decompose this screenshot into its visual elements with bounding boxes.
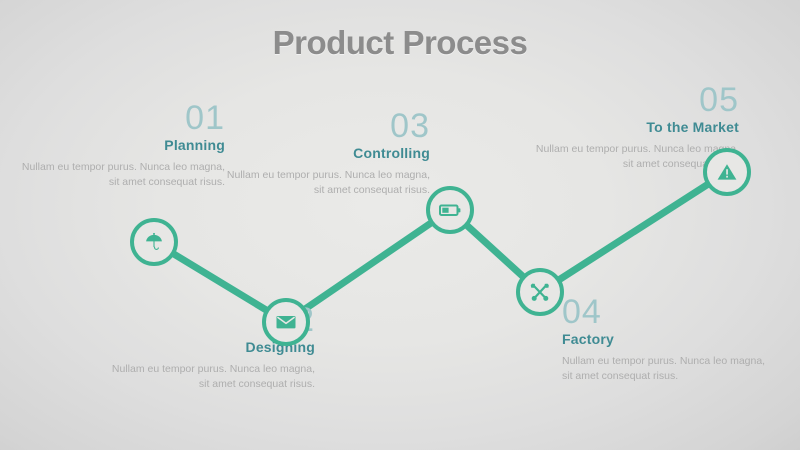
warning-triangle-icon bbox=[715, 160, 739, 184]
step-body: Nullam eu tempor purus. Nunca leo magna,… bbox=[10, 160, 225, 190]
envelope-icon bbox=[274, 310, 298, 334]
step-heading: Factory bbox=[562, 331, 777, 347]
step-node-5[interactable] bbox=[703, 148, 751, 196]
step-heading: To the Market bbox=[524, 119, 739, 135]
step-body: Nullam eu tempor purus. Nunca leo magna,… bbox=[215, 168, 430, 198]
step-node-4[interactable] bbox=[516, 268, 564, 316]
step-number: 03 bbox=[215, 108, 430, 144]
umbrella-icon bbox=[143, 231, 165, 253]
step-body: Nullam eu tempor purus. Nunca leo magna,… bbox=[562, 354, 777, 384]
step-heading: Controlling bbox=[215, 145, 430, 161]
step-block-3: 03 Controlling Nullam eu tempor purus. N… bbox=[215, 108, 430, 198]
step-body: Nullam eu tempor purus. Nunca leo magna,… bbox=[100, 362, 315, 392]
step-node-1[interactable] bbox=[130, 218, 178, 266]
step-node-2[interactable] bbox=[262, 298, 310, 346]
step-block-1: 01 Planning Nullam eu tempor purus. Nunc… bbox=[10, 100, 225, 190]
step-number: 05 bbox=[524, 82, 739, 118]
step-number: 01 bbox=[10, 100, 225, 136]
battery-icon bbox=[437, 197, 463, 223]
tools-icon bbox=[527, 279, 553, 305]
step-number: 04 bbox=[562, 294, 777, 330]
process-slide: Product Process bbox=[0, 0, 800, 450]
step-block-4: 04 Factory Nullam eu tempor purus. Nunca… bbox=[562, 294, 777, 384]
step-heading: Planning bbox=[10, 137, 225, 153]
step-node-3[interactable] bbox=[426, 186, 474, 234]
